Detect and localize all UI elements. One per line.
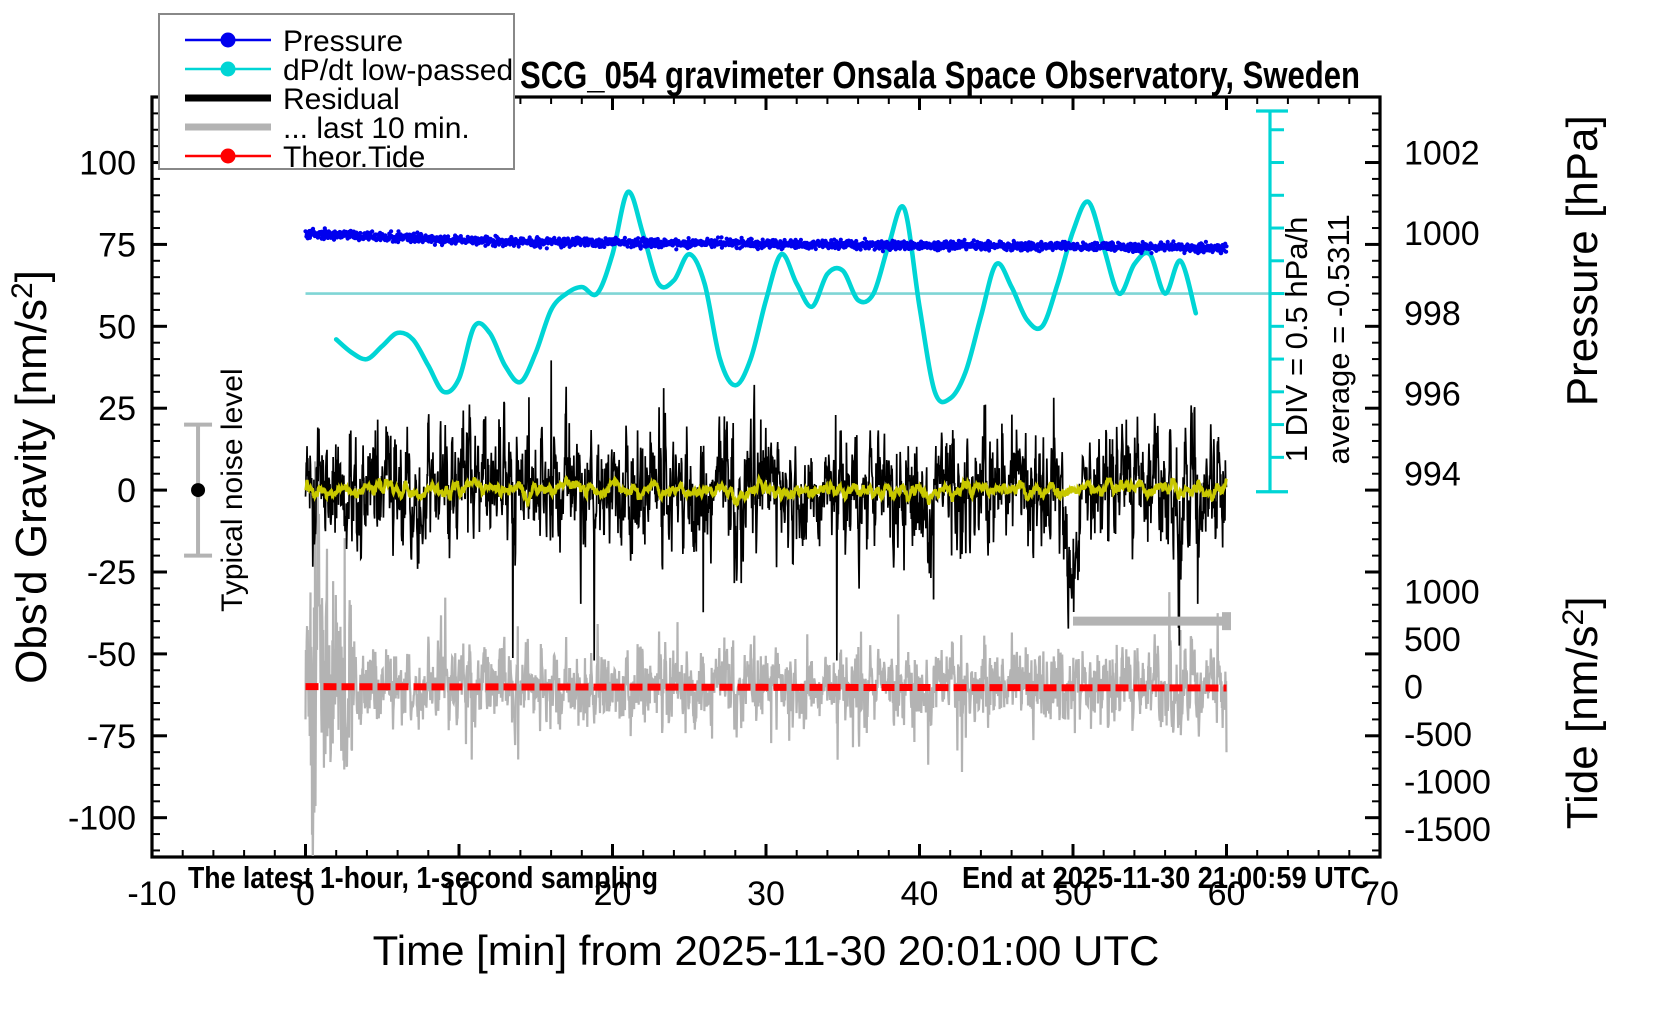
scale-division-label: 1 DIV = 0.5 hPa/h <box>1279 217 1314 463</box>
chart-title: SCG_054 gravimeter Onsala Space Observat… <box>520 55 1360 97</box>
y-left-tick-label: -50 <box>87 636 136 674</box>
x-tick-label: 30 <box>747 875 785 913</box>
average-label: average = -0.5311 <box>1321 214 1356 464</box>
dpdt-lowpassed-trace <box>336 192 1196 402</box>
y-right-tide-tick-label: -1000 <box>1404 764 1491 802</box>
residual-trace <box>306 360 1227 660</box>
legend-swatch-marker <box>221 62 236 77</box>
y-right-tide-tick-label: 1000 <box>1404 574 1480 612</box>
y-axis-left: 1007550250-25-50-75-100Obs'd Gravity [nm… <box>6 97 167 850</box>
y-right-pressure-tick-label: 1002 <box>1404 135 1480 173</box>
y-left-tick-label: -100 <box>68 800 136 838</box>
noise-level-label: Typical noise level <box>216 368 249 611</box>
y-left-tick-label: -75 <box>87 718 136 756</box>
noise-center-dot <box>191 483 205 497</box>
legend[interactable]: PressuredP/dt low-passedResidual... last… <box>159 14 514 174</box>
y-left-tick-label: 0 <box>117 472 136 510</box>
grey-last-10-min-trace <box>306 461 1227 866</box>
y-right-pressure-tick-label: 994 <box>1404 456 1461 494</box>
theoretical-tide-trace <box>306 687 1227 688</box>
dpdt-scale-bar: 1 DIV = 0.5 hPa/haverage = -0.5311 <box>1256 111 1356 492</box>
y-right-pressure-tick-label: 1000 <box>1404 215 1480 253</box>
x-tick-label: 40 <box>901 875 939 913</box>
y-left-tick-label: 75 <box>98 226 136 264</box>
pressure-points <box>303 226 1228 255</box>
bottom-left-annotation: The latest 1-hour, 1-second sampling <box>188 860 658 895</box>
legend-swatch-marker <box>221 149 236 164</box>
x-axis-label: Time [min] from 2025-11-30 20:01:00 UTC <box>373 927 1160 974</box>
y-right-tide-tick-label: 0 <box>1404 669 1423 707</box>
y-right-tide-tick-label: -500 <box>1404 716 1472 754</box>
y-right-tide-tick-label: -1500 <box>1404 811 1491 849</box>
pressure-scatter <box>303 226 1228 255</box>
y-left-tick-label: 100 <box>79 145 136 183</box>
y-right-pressure-tick-label: 996 <box>1404 375 1461 413</box>
y-right-tide-axis-label: Tide [nm/s2] <box>1557 597 1607 830</box>
legend-item-label: Theor.Tide <box>283 141 425 174</box>
y-left-axis-label: Obs'd Gravity [nm/s2] <box>6 270 56 684</box>
y-left-tick-label: 25 <box>98 390 136 428</box>
y-right-pressure-axis-label: Pressure [hPa] <box>1558 115 1607 406</box>
gravimeter-plot-svg: -10010203040506070Time [min] from 2025-1… <box>0 0 1660 1020</box>
y-left-tick-label: 50 <box>98 308 136 346</box>
x-tick-label: -10 <box>127 875 176 913</box>
legend-swatch-marker <box>221 33 236 48</box>
chart-figure: -10010203040506070Time [min] from 2025-1… <box>0 0 1660 1020</box>
y-left-tick-label: -25 <box>87 554 136 592</box>
bottom-right-annotation: End at 2025-11-30 21:00:59 UTC <box>962 860 1370 895</box>
y-right-tide-tick-label: 500 <box>1404 621 1461 659</box>
typical-noise-level-annotation: Typical noise level <box>184 368 249 611</box>
y-right-pressure-tick-label: 998 <box>1404 295 1461 333</box>
y-axis-right: 10021000998996994Pressure [hPa]10005000-… <box>1365 97 1607 850</box>
